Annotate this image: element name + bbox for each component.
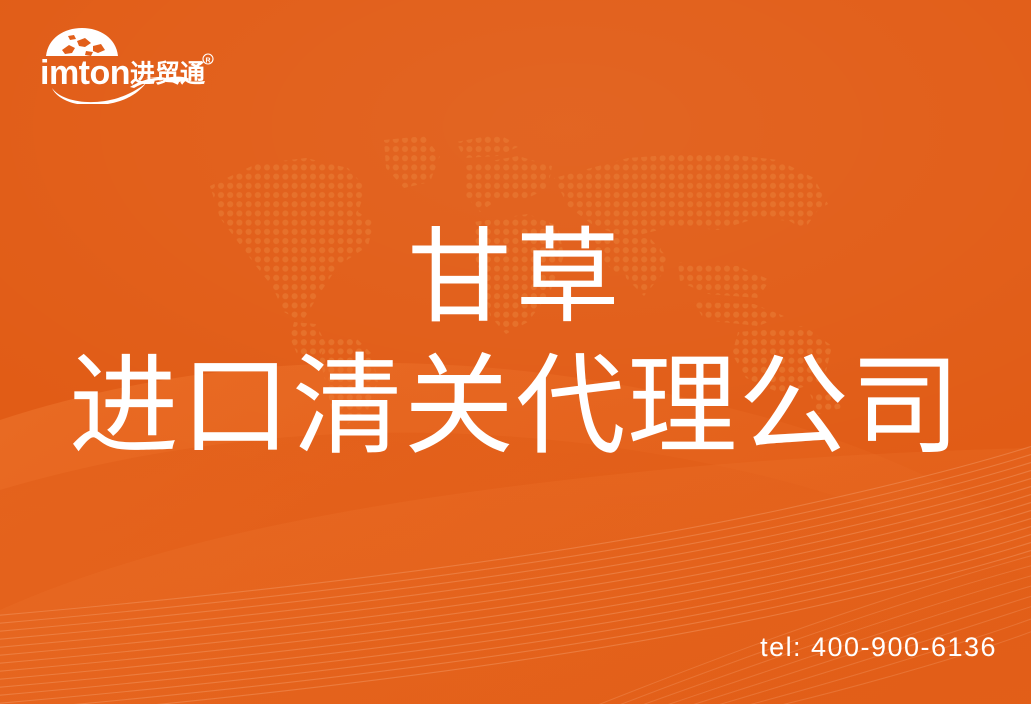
logo-wordmark: imton (40, 54, 130, 92)
telephone-number[interactable]: tel: 400-900-6136 (760, 632, 997, 663)
brand-logo[interactable]: imton 进贸通 R (38, 26, 218, 104)
page-title: 甘草 进口清关代理公司 (0, 226, 1031, 462)
title-line-1: 甘草 (0, 226, 1031, 330)
svg-text:R: R (205, 57, 210, 64)
title-line-2: 进口清关代理公司 (0, 352, 1031, 462)
poster-canvas: imton 进贸通 R 甘草 进口清关代理公司 tel: 400-900-613… (0, 0, 1031, 704)
